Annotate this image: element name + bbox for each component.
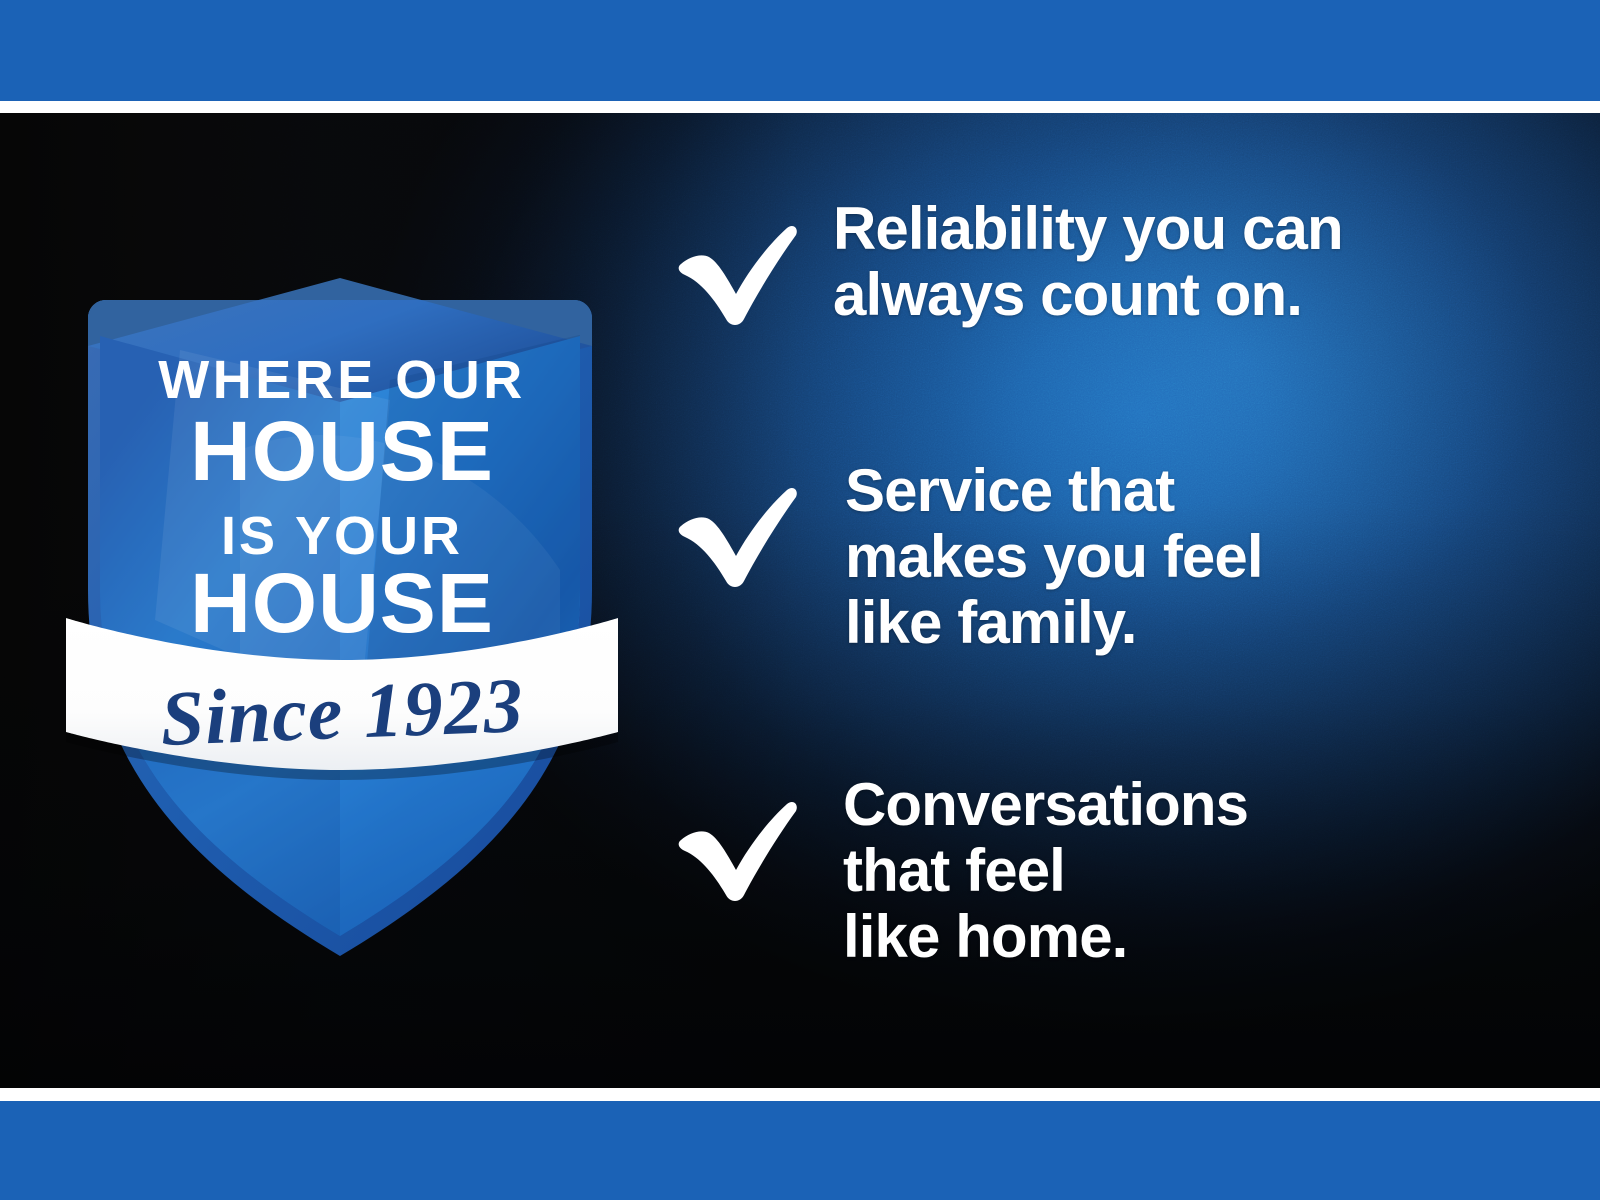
benefit-item-2: Service that makes you feel like family. [665, 458, 1545, 656]
logo-line-2: HOUSE [190, 404, 494, 498]
top-accent-band [0, 0, 1600, 101]
benefit-text-2: Service that makes you feel like family. [845, 458, 1545, 656]
benefit-item-1: Reliability you can always count on. [665, 196, 1545, 328]
benefit-text-1: Reliability you can always count on. [833, 196, 1545, 328]
shield-logo: WHERE OUR HOUSE IS YOUR HOUSE Since 1923 [60, 150, 620, 960]
logo-line-4: HOUSE [190, 556, 494, 650]
ribbon-script-text: Since 1923 [159, 661, 525, 762]
benefits-list: Reliability you can always count on. Ser… [665, 196, 1545, 1026]
checkmark-icon [665, 782, 805, 902]
logo-line-1: WHERE OUR [158, 350, 526, 410]
benefit-text-3: Conversations that feel like home. [843, 772, 1545, 970]
benefit-item-3: Conversations that feel like home. [665, 772, 1545, 970]
promo-graphic: WHERE OUR HOUSE IS YOUR HOUSE Since 1923… [0, 0, 1600, 1200]
checkmark-icon [665, 468, 805, 588]
bottom-accent-band [0, 1101, 1600, 1200]
checkmark-icon [665, 206, 805, 326]
